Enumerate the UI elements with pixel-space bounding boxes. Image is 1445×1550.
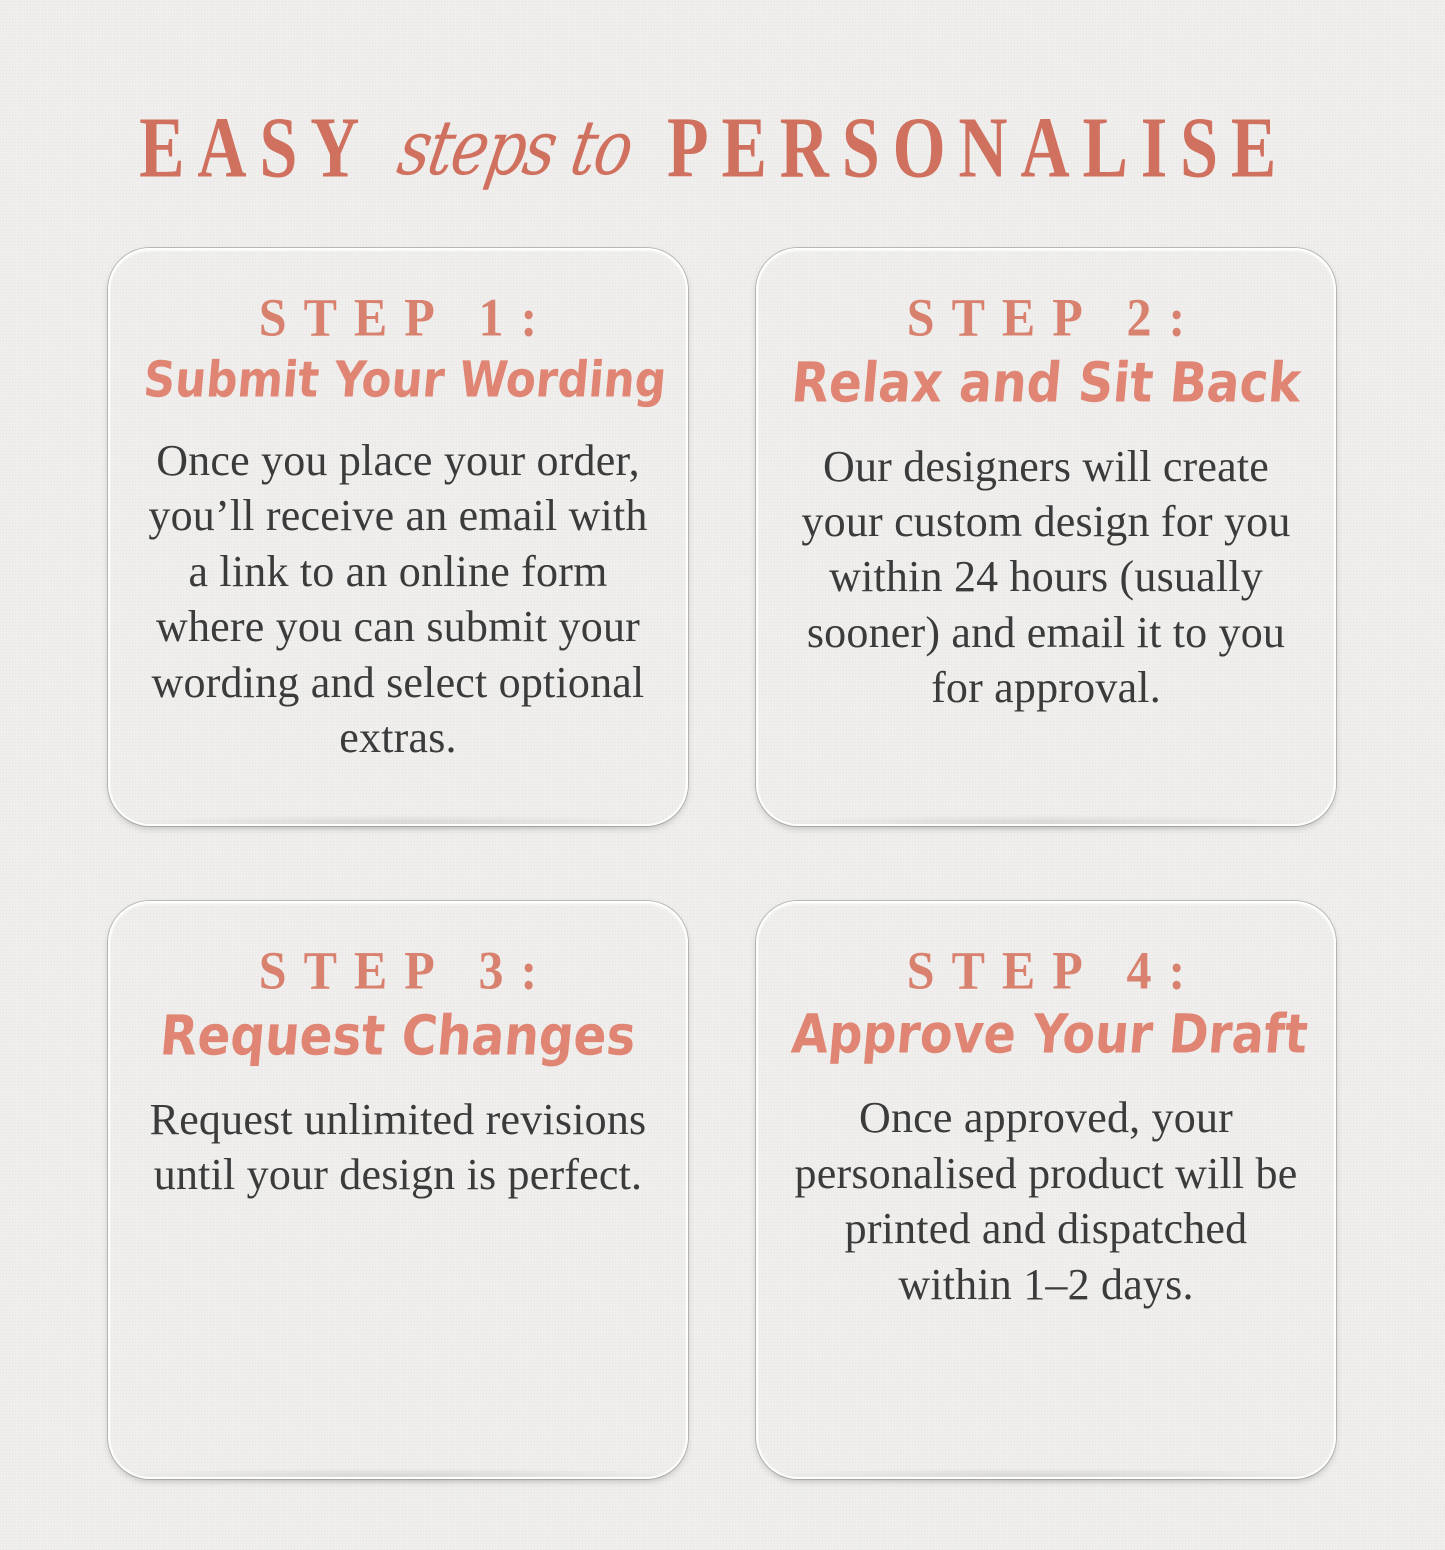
personalisation-steps-infographic: EASYsteps toPERSONALISE STEP 1: Submit Y… xyxy=(0,0,1445,1550)
page-title: EASYsteps toPERSONALISE xyxy=(0,118,1445,192)
step-card-4: STEP 4: Approve Your Draft Once approved… xyxy=(756,901,1336,1479)
step-card-4-body: Once approved, your personalised product… xyxy=(784,1090,1308,1312)
step-card-1-body: Once you place your order, you’ll receiv… xyxy=(136,433,660,766)
step-card-4-label: STEP 4: xyxy=(784,937,1308,1005)
page-title-word-easy: EASY xyxy=(139,105,372,192)
step-card-4-title: Approve Your Draft xyxy=(789,1005,1303,1065)
step-card-3-body: Request unlimited revisions until your d… xyxy=(136,1092,660,1203)
step-card-2-body: Our designers will create your custom de… xyxy=(784,439,1308,716)
step-card-1-title: Submit Your Wording xyxy=(141,352,654,407)
step-card-1: STEP 1: Submit Your Wording Once you pla… xyxy=(108,248,688,826)
step-card-3-title: Request Changes xyxy=(141,1005,655,1067)
step-card-2: STEP 2: Relax and Sit Back Our designers… xyxy=(756,248,1336,826)
step-card-2-content: STEP 2: Relax and Sit Back Our designers… xyxy=(784,286,1308,716)
step-card-2-title: Relax and Sit Back xyxy=(789,352,1303,414)
step-card-1-content: STEP 1: Submit Your Wording Once you pla… xyxy=(136,286,660,766)
step-card-3-content: STEP 3: Request Changes Request unlimite… xyxy=(136,939,660,1202)
step-card-1-label: STEP 1: xyxy=(136,284,660,352)
steps-card-grid: STEP 1: Submit Your Wording Once you pla… xyxy=(108,248,1336,1479)
step-card-3-label: STEP 3: xyxy=(136,937,660,1005)
step-card-2-label: STEP 2: xyxy=(784,284,1308,352)
step-card-3: STEP 3: Request Changes Request unlimite… xyxy=(108,901,688,1479)
page-title-script-steps-to: steps to xyxy=(393,110,637,186)
step-card-4-content: STEP 4: Approve Your Draft Once approved… xyxy=(784,939,1308,1312)
page-title-word-personalise: PERSONALISE xyxy=(667,105,1289,192)
